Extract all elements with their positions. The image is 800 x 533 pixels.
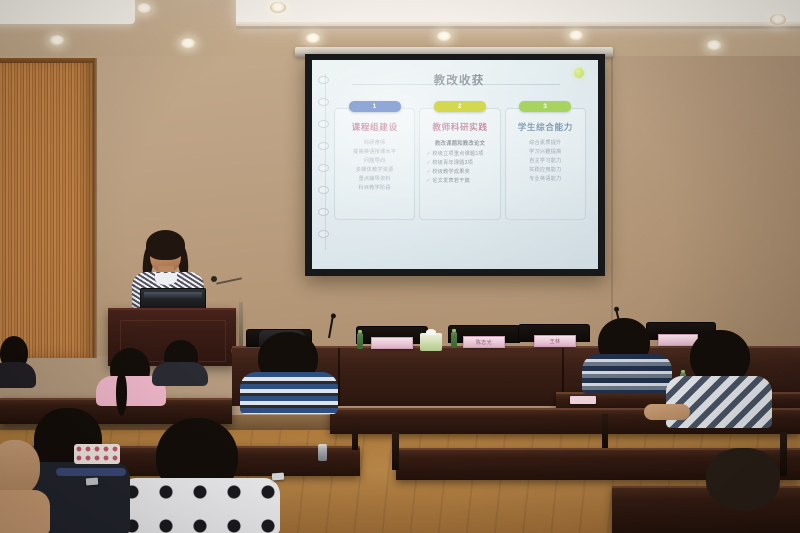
ceiling-light-panel-main: [236, 0, 800, 24]
ceiling-light-panel-left: [0, 0, 135, 24]
column-item: 自主学习能力: [509, 157, 582, 166]
downlight-icon: [770, 14, 786, 25]
table-seam: [338, 348, 340, 406]
column-subtitle: 教改课题和教改论文: [423, 139, 496, 147]
column-heading: 教师科研实践: [423, 121, 496, 133]
column-number-badge: 2: [434, 101, 486, 112]
name-plate-text: 陈志光: [476, 339, 492, 346]
slide-title-row: 教改收获: [328, 67, 590, 93]
audience-body: [582, 354, 672, 394]
column-box: 教师科研实践 教改课题和教改论文 校级立项重点课题1项 校级青年课题3项 校级教…: [419, 108, 500, 220]
audience-arm: [644, 404, 690, 420]
column-checked-item: 校级青年课题3项: [423, 159, 496, 168]
downlight-icon: [568, 30, 584, 41]
column-checked-item: 论文发表若干篇: [423, 177, 496, 186]
name-plate: 王林: [534, 335, 576, 347]
patterned-pouch: [74, 444, 120, 464]
wood-panel-top-trim: [0, 58, 93, 63]
downlight-icon: [136, 3, 152, 14]
laptop: [140, 288, 206, 310]
accent-dot-icon: [574, 68, 584, 78]
column-number: 3: [543, 103, 547, 110]
lecture-room-photo: 教改收获 1 课程组建设 科研育师 提高英语授课水平 问题导向: [0, 0, 800, 533]
slide-column-2: 2 教师科研实践 教改课题和教改论文 校级立项重点课题1项 校级青年课题3项 校…: [419, 98, 500, 220]
column-heading: 课程组建设: [338, 121, 411, 133]
desk-leg: [352, 422, 358, 450]
column-box: 课程组建设 科研育师 提高英语授课水平 问题导向 多媒体教学资源 重点辅导资料 …: [334, 108, 415, 220]
wall-corner-edge: [611, 56, 613, 346]
audience-body: [56, 468, 126, 476]
bottle-cap: [358, 330, 362, 333]
column-item: 学习兴趣提高: [509, 148, 582, 157]
wood-panel-edge: [93, 58, 97, 358]
column-number: 1: [373, 103, 377, 110]
column-item: 提高英语授课水平: [338, 148, 411, 157]
downlight-icon: [270, 2, 286, 13]
audience-head: [706, 448, 780, 510]
audience-body: [240, 372, 338, 414]
tissue-box: [420, 333, 442, 351]
microphone-head-icon: [211, 276, 217, 282]
laptop-screen: [144, 292, 202, 299]
column-item: 重点辅导资料: [338, 175, 411, 184]
column-box: 学生综合能力 综合素质提升 学习兴趣提高 自主学习能力 实践应用能力 专业英语能…: [505, 108, 586, 220]
column-item: 科目教学阶段: [338, 184, 411, 193]
presentation-slide: 教改收获 1 课程组建设 科研育师 提高英语授课水平 问题导向: [312, 60, 598, 269]
projection-screen: 教改收获 1 课程组建设 科研育师 提高英语授课水平 问题导向: [305, 54, 605, 276]
downlight-icon: [49, 35, 65, 46]
audience-body: [120, 478, 280, 533]
audience-body: [0, 362, 36, 388]
downlight-icon: [436, 31, 452, 42]
smartphone: [86, 478, 98, 486]
bottle-cap: [681, 370, 685, 373]
microphone-stand: [239, 302, 243, 350]
presenter-collar: [155, 273, 177, 285]
downlight-icon: [180, 38, 196, 49]
column-item: 综合素质提升: [509, 139, 582, 148]
column-item: 实践应用能力: [509, 166, 582, 175]
audience-body: [0, 490, 50, 533]
desk-leg: [602, 414, 608, 448]
column-checked-item: 校级教学成果奖: [423, 168, 496, 177]
notebook-spine-line: [325, 74, 326, 250]
ceiling-recess-shadow: [236, 26, 800, 29]
audience-ponytail: [116, 372, 127, 416]
desk-leg: [780, 432, 787, 476]
column-heading: 学生综合能力: [509, 121, 582, 133]
slide-column-3: 3 学生综合能力 综合素质提升 学习兴趣提高 自主学习能力 实践应用能力 专业英…: [505, 98, 586, 220]
column-number-badge: 3: [519, 101, 571, 112]
water-bottle: [451, 332, 457, 348]
downlight-icon: [305, 33, 321, 44]
slide-title: 教改收获: [434, 72, 485, 88]
slide-columns: 1 课程组建设 科研育师 提高英语授课水平 问题导向 多媒体教学资源 重点辅导资…: [328, 93, 590, 220]
bottle-cap: [452, 329, 456, 332]
audience-body: [152, 362, 208, 386]
screen-surface: 教改收获 1 课程组建设 科研育师 提高英语授课水平 问题导向: [312, 60, 598, 269]
tissue-puff: [426, 329, 436, 335]
name-plate-text: 王林: [550, 338, 561, 345]
name-plate: 陈志光: [463, 336, 505, 348]
water-bottle: [357, 333, 363, 349]
column-number: 2: [458, 103, 462, 110]
desk-leg: [392, 432, 399, 470]
paper-sheet: [570, 396, 596, 404]
column-item: 专业英语能力: [509, 175, 582, 184]
wood-slat-wall-panel: [0, 58, 93, 358]
column-number-badge: 1: [349, 101, 401, 112]
presenter-hair: [146, 230, 185, 260]
drinking-cup: [318, 444, 327, 461]
column-item: 科研育师: [338, 139, 411, 148]
smartphone: [272, 473, 284, 481]
column-item: 问题导向: [338, 157, 411, 166]
name-plate: [371, 337, 413, 349]
slide-column-1: 1 课程组建设 科研育师 提高英语授课水平 问题导向 多媒体教学资源 重点辅导资…: [334, 98, 415, 220]
audience-body: [666, 376, 772, 428]
downlight-icon: [706, 40, 722, 51]
column-checked-item: 校级立项重点课题1项: [423, 150, 496, 159]
column-item: 多媒体教学资源: [338, 166, 411, 175]
microphone-boom: [216, 277, 242, 284]
